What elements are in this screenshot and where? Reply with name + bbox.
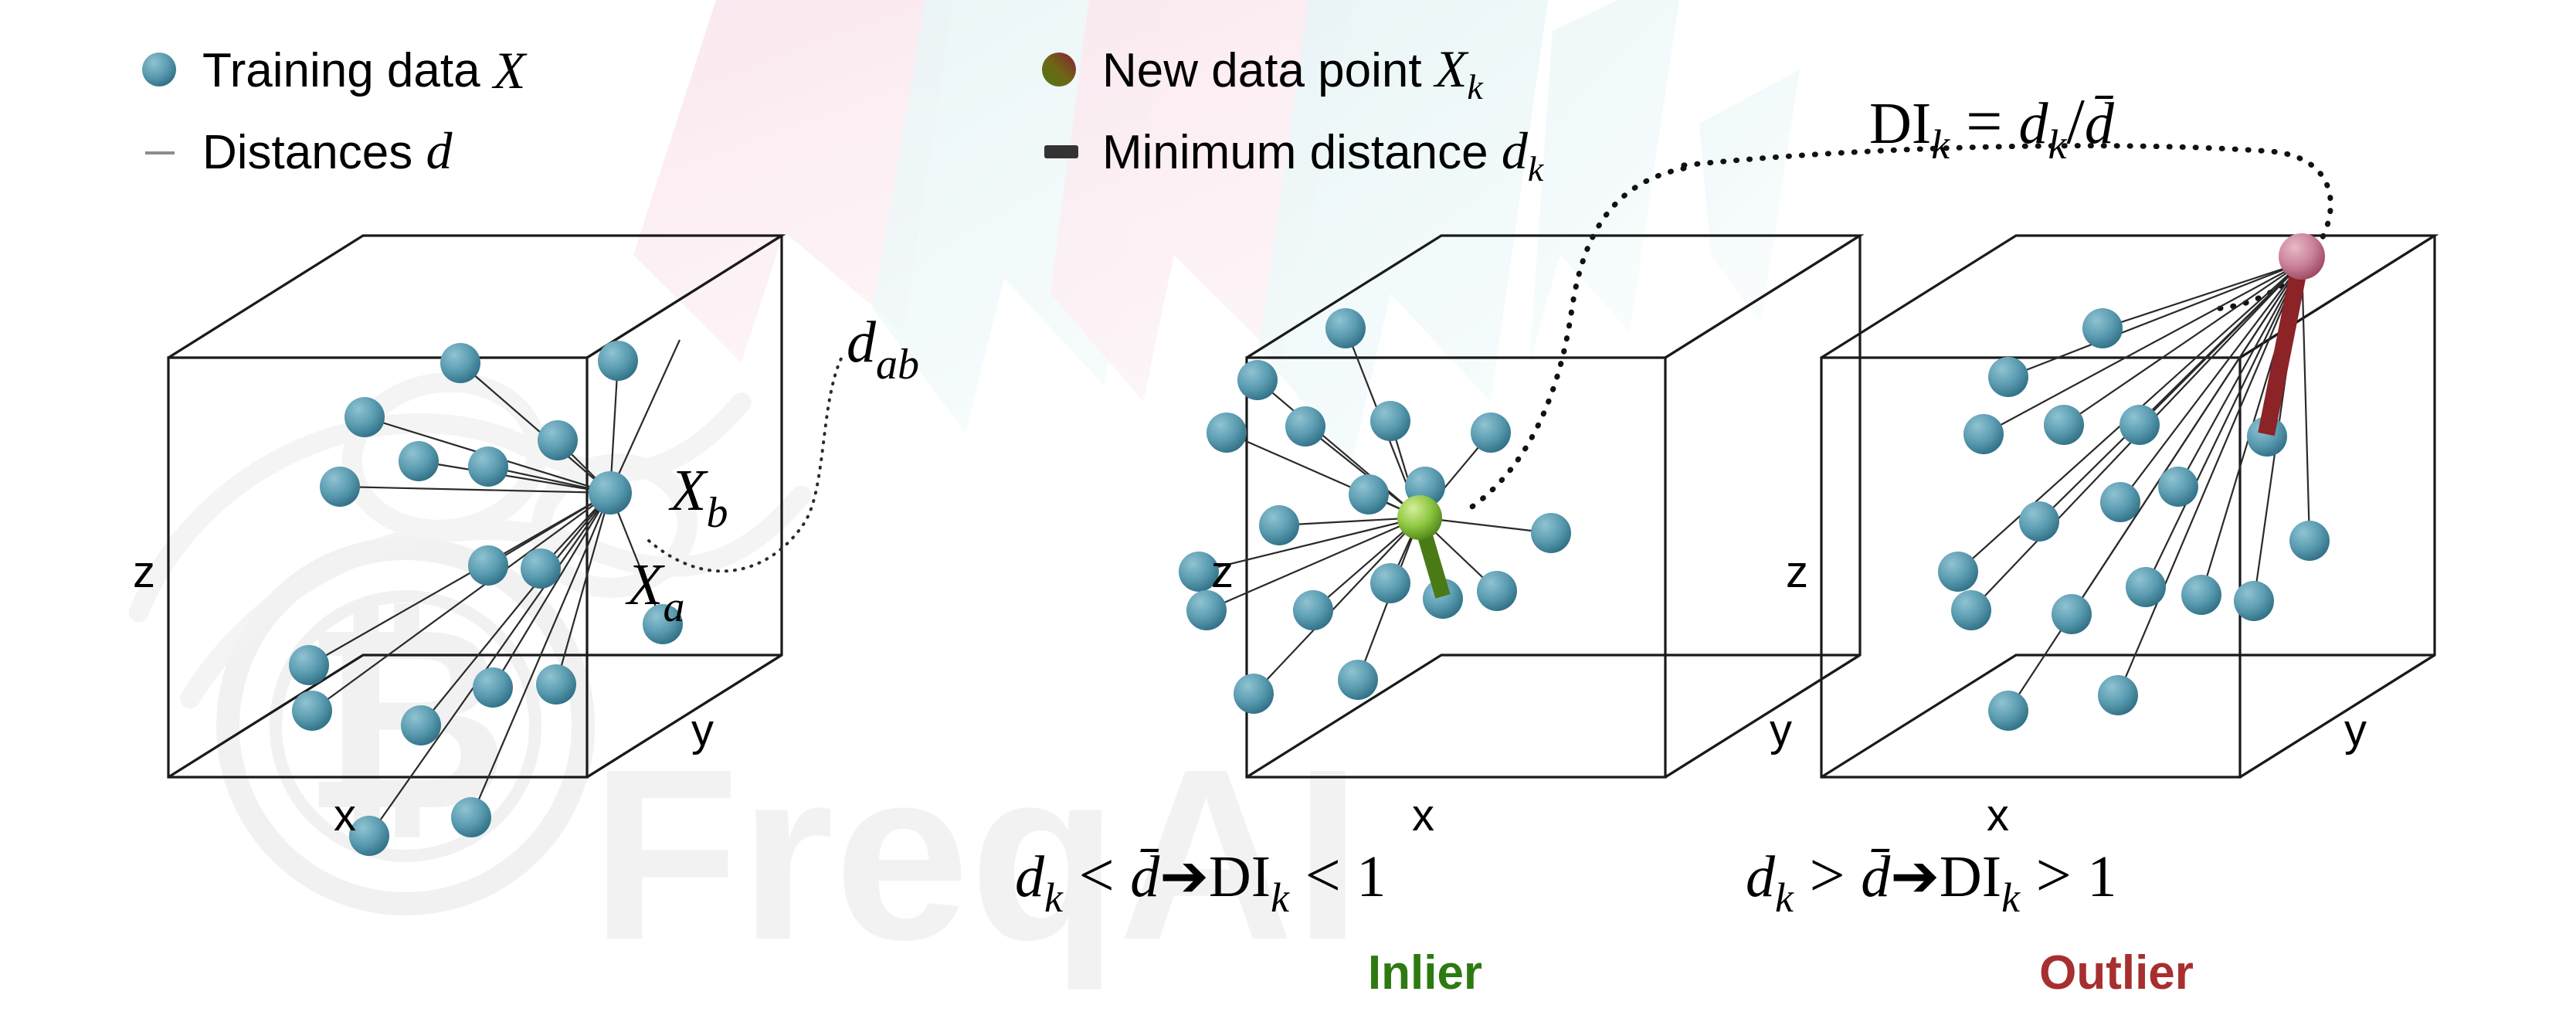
axis-label-y-3: y [2344, 705, 2367, 755]
legend-symbol-training-data: X [491, 41, 528, 100]
di-lead-sub: k [1931, 121, 1950, 168]
axis-label-x-3: x [1987, 790, 2009, 840]
legend-symbol-minimum-distance: d [1502, 121, 1529, 180]
inlier-verdict-label: Inlier [1368, 946, 1482, 1000]
svg-text:New data point Xk: New data point Xk [1102, 39, 1484, 107]
di-lead: DI [1869, 91, 1931, 156]
legend-label-distances: Distances [202, 126, 426, 179]
legend-symbol-sub-new-data-point: k [1467, 67, 1484, 107]
thin-dash-marker [145, 151, 175, 154]
d-ab-sym: d [847, 310, 877, 375]
svg-text:Training data X: Training data X [202, 41, 528, 100]
inlier-caption-formula: dk < d̄➔DIk < 1 [1015, 840, 1386, 921]
teal-sphere-marker [142, 53, 176, 87]
label-xb: Xb [668, 458, 728, 537]
axis-label-z-2: z [1211, 547, 1234, 597]
new-data-point-inlier [1397, 495, 1442, 540]
legend-item-minimum-distance[interactable]: Minimum distance dk [1044, 121, 1545, 188]
svg-text:Distances d: Distances d [202, 121, 453, 180]
legend-label-minimum-distance: Minimum distance [1102, 126, 1502, 179]
axis-label-z-1: z [133, 547, 155, 597]
outlier-panel: z x y dk > d̄➔DIk > 1 Outlier [1746, 233, 2435, 1000]
data-points-2 [1179, 308, 1571, 714]
legend-symbol-distances: d [426, 121, 453, 180]
distance-lines-3 [1958, 263, 2310, 711]
di-formula-annotation: DIk = dk/d̄ [1869, 86, 2115, 168]
outlier-verdict-label: Outlier [2039, 946, 2194, 1000]
point-xa [589, 471, 632, 514]
svg-text:DIk = dk/d̄: DIk = dk/d̄ [1869, 86, 2115, 168]
axis-label-z-3: z [1786, 547, 1808, 597]
legend-item-distances[interactable]: Distances d [145, 121, 453, 180]
axis-label-y-1: y [691, 705, 714, 755]
red-green-sphere-marker [1042, 53, 1076, 87]
svg-text:Minimum distance dk: Minimum distance dk [1102, 121, 1545, 188]
axis-label-x-1: x [334, 790, 356, 840]
thick-dash-marker [1044, 145, 1078, 158]
legend-symbol-new-data-point: X [1433, 39, 1469, 98]
legend-item-training-data[interactable]: Training data X [142, 41, 528, 100]
axis-label-y-2: y [1770, 705, 1792, 755]
new-data-point-outlier [2279, 233, 2325, 280]
axis-label-x-2: x [1412, 790, 1434, 840]
legend-label-new-data-point: New data point [1102, 44, 1435, 97]
legend-label-training-data: Training data [202, 44, 494, 97]
d-ab-sub: ab [876, 341, 919, 389]
outlier-caption-formula: dk > d̄➔DIk > 1 [1746, 840, 2116, 921]
figure-canvas: ₿ FreqAI Training data X Distances d [0, 0, 2576, 1022]
legend-item-new-data-point[interactable]: New data point Xk [1042, 39, 1484, 107]
legend-symbol-sub-minimum-distance: k [1528, 149, 1545, 188]
